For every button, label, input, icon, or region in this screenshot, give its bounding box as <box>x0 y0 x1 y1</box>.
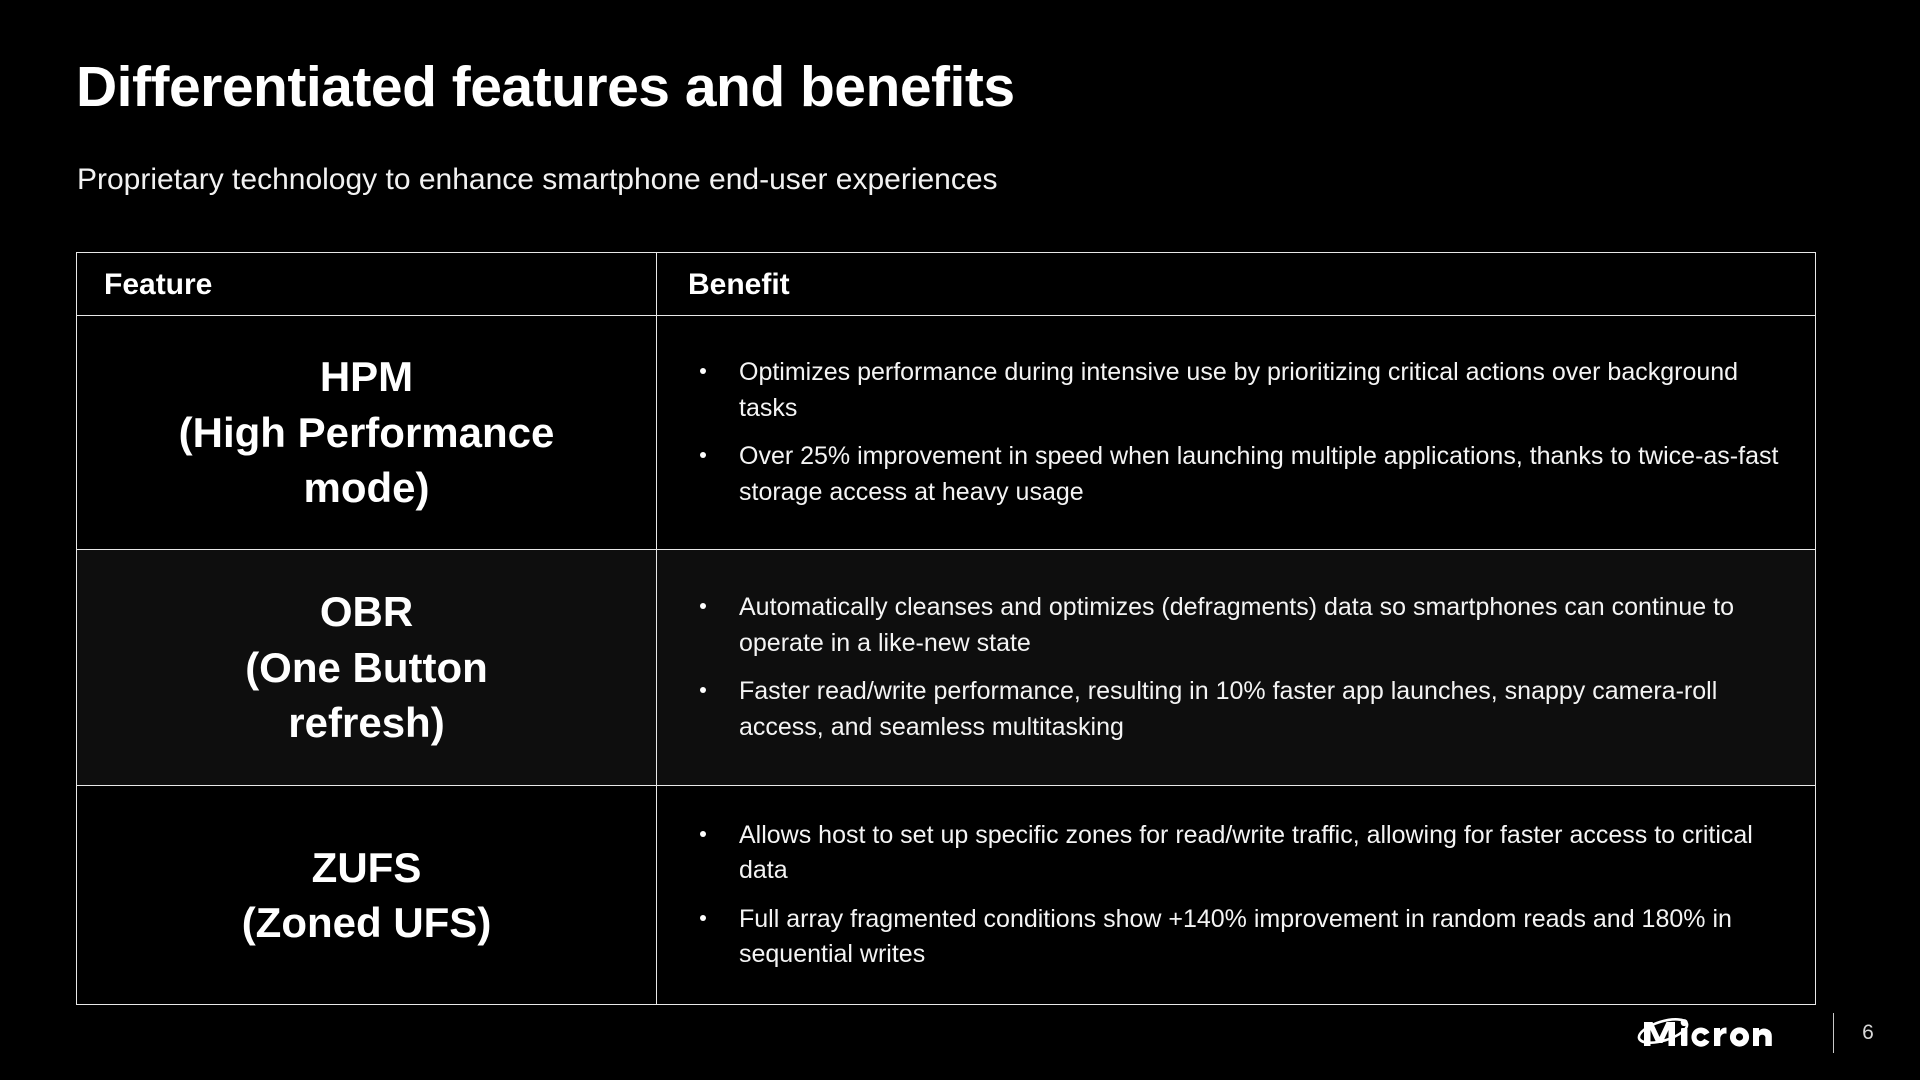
feature-line: OBR <box>320 588 413 635</box>
list-item: Automatically cleanses and optimizes (de… <box>687 590 1789 661</box>
slide-canvas: Differentiated features and benefits Pro… <box>0 0 1920 1080</box>
list-item: Optimizes performance during intensive u… <box>687 355 1789 426</box>
list-item: Over 25% improvement in speed when launc… <box>687 439 1789 510</box>
list-item: Faster read/write performance, resulting… <box>687 674 1789 745</box>
feature-cell-obr: OBR (One Button refresh) <box>77 550 657 785</box>
benefit-list-zufs: Allows host to set up specific zones for… <box>687 818 1789 973</box>
benefit-text: Optimizes performance during intensive u… <box>739 358 1738 422</box>
slide-footer: 6 <box>1637 1010 1877 1056</box>
table-row: HPM (High Performance mode) Optimizes pe… <box>77 316 1815 550</box>
micron-logo <box>1637 1010 1805 1056</box>
benefit-text: Over 25% improvement in speed when launc… <box>739 442 1778 506</box>
column-header-feature: Feature <box>104 268 212 301</box>
footer-divider <box>1833 1013 1835 1053</box>
benefit-cell-hpm: Optimizes performance during intensive u… <box>657 316 1815 549</box>
feature-line: HPM <box>320 353 413 400</box>
feature-line: ZUFS <box>312 844 422 891</box>
benefit-list-obr: Automatically cleanses and optimizes (de… <box>687 590 1789 745</box>
features-benefits-table: Feature Benefit HPM (High Performance mo… <box>76 252 1816 1005</box>
list-item: Allows host to set up specific zones for… <box>687 818 1789 889</box>
feature-line: (One Button <box>245 644 488 691</box>
feature-line: (High Performance <box>179 409 555 456</box>
feature-line: refresh) <box>288 699 444 746</box>
benefit-cell-zufs: Allows host to set up specific zones for… <box>657 786 1815 1004</box>
list-item: Full array fragmented conditions show +1… <box>687 902 1789 973</box>
benefit-list-hpm: Optimizes performance during intensive u… <box>687 355 1789 510</box>
benefit-text: Allows host to set up specific zones for… <box>739 821 1753 885</box>
feature-name-hpm: HPM (High Performance mode) <box>95 349 638 515</box>
header-cell-feature: Feature <box>77 253 657 315</box>
benefit-cell-obr: Automatically cleanses and optimizes (de… <box>657 550 1815 785</box>
table-row: ZUFS (Zoned UFS) Allows host to set up s… <box>77 786 1815 1004</box>
header-cell-benefit: Benefit <box>657 253 1815 315</box>
feature-cell-zufs: ZUFS (Zoned UFS) <box>77 786 657 1004</box>
micron-orbit-logo-icon <box>1637 1010 1805 1056</box>
bullet-icon <box>700 687 706 693</box>
benefit-text: Full array fragmented conditions show +1… <box>739 905 1732 969</box>
table-row: OBR (One Button refresh) Automatically c… <box>77 550 1815 786</box>
page-title: Differentiated features and benefits <box>76 58 1015 118</box>
bullet-icon <box>700 368 706 374</box>
feature-line: mode) <box>304 464 430 511</box>
bullet-icon <box>700 915 706 921</box>
feature-line: (Zoned UFS) <box>242 899 492 946</box>
feature-name-zufs: ZUFS (Zoned UFS) <box>95 840 638 951</box>
page-subtitle: Proprietary technology to enhance smartp… <box>77 162 998 198</box>
bullet-icon <box>700 831 706 837</box>
bullet-icon <box>700 603 706 609</box>
feature-name-obr: OBR (One Button refresh) <box>95 584 638 750</box>
bullet-icon <box>700 452 706 458</box>
column-header-benefit: Benefit <box>688 268 790 301</box>
table-header-row: Feature Benefit <box>77 253 1815 316</box>
benefit-text: Automatically cleanses and optimizes (de… <box>739 593 1734 657</box>
feature-cell-hpm: HPM (High Performance mode) <box>77 316 657 549</box>
benefit-text: Faster read/write performance, resulting… <box>739 677 1717 741</box>
page-number: 6 <box>1860 1021 1876 1045</box>
